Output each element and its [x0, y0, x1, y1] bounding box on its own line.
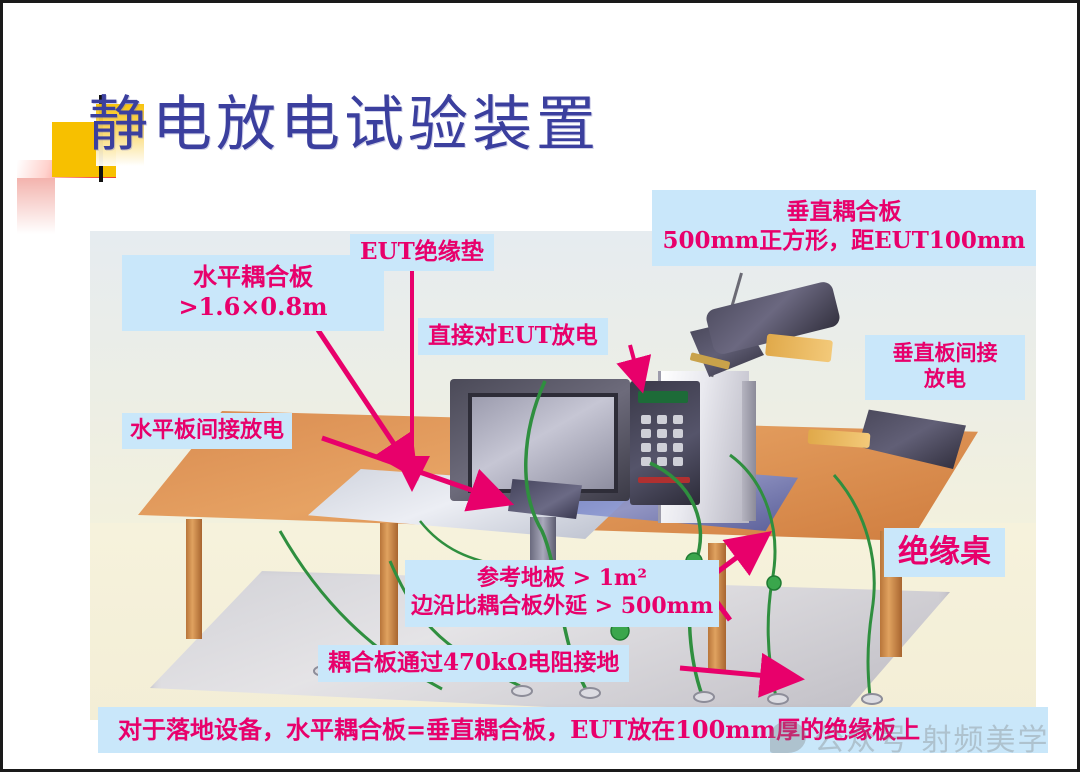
label-vcp-indirect-line2: 放电 — [871, 366, 1019, 392]
label-ground-line2: 边沿比耦合板外延 > 500mm — [411, 593, 713, 621]
label-hcp-line1: 水平耦合板 — [128, 262, 378, 292]
label-vertical-coupling-plane: 垂直耦合板 500mm正方形，距EUT100mm — [652, 190, 1036, 266]
label-horizontal-coupling-plane: 水平耦合板 >1.6×0.8m — [122, 255, 384, 331]
watermark: 公众号 射频美学 — [770, 704, 1070, 770]
label-horizontal-indirect-discharge: 水平板间接放电 — [122, 413, 292, 449]
label-ground-reference: 参考地板 > 1m² 边沿比耦合板外延 > 500mm — [405, 560, 719, 627]
speech-bubble-icon — [770, 721, 806, 753]
page-title: 静电放电试验装置 — [88, 88, 600, 162]
label-vcp-line1: 垂直耦合板 — [658, 198, 1030, 227]
label-direct-discharge: 直接对EUT放电 — [418, 318, 608, 355]
label-vertical-indirect-discharge: 垂直板间接 放电 — [865, 335, 1025, 400]
label-resistor-ground: 耦合板通过470kΩ电阻接地 — [318, 645, 629, 682]
label-insulating-table: 绝缘桌 — [884, 528, 1005, 577]
slide-canvas: 静电放电试验装置 — [0, 0, 1080, 772]
label-ground-line1: 参考地板 > 1m² — [411, 565, 713, 593]
watermark-text: 公众号 射频美学 — [814, 715, 1050, 759]
slide-border-top — [0, 0, 1080, 3]
label-vcp-indirect-line1: 垂直板间接 — [871, 340, 1019, 366]
title-decoration-red-fade — [17, 178, 55, 234]
label-hcp-line2: >1.6×0.8m — [128, 292, 378, 322]
label-vcp-line2: 500mm正方形，距EUT100mm — [658, 227, 1030, 256]
slide-border-left — [0, 0, 3, 772]
label-eut-insulation-mat: EUT绝缘垫 — [350, 234, 494, 271]
